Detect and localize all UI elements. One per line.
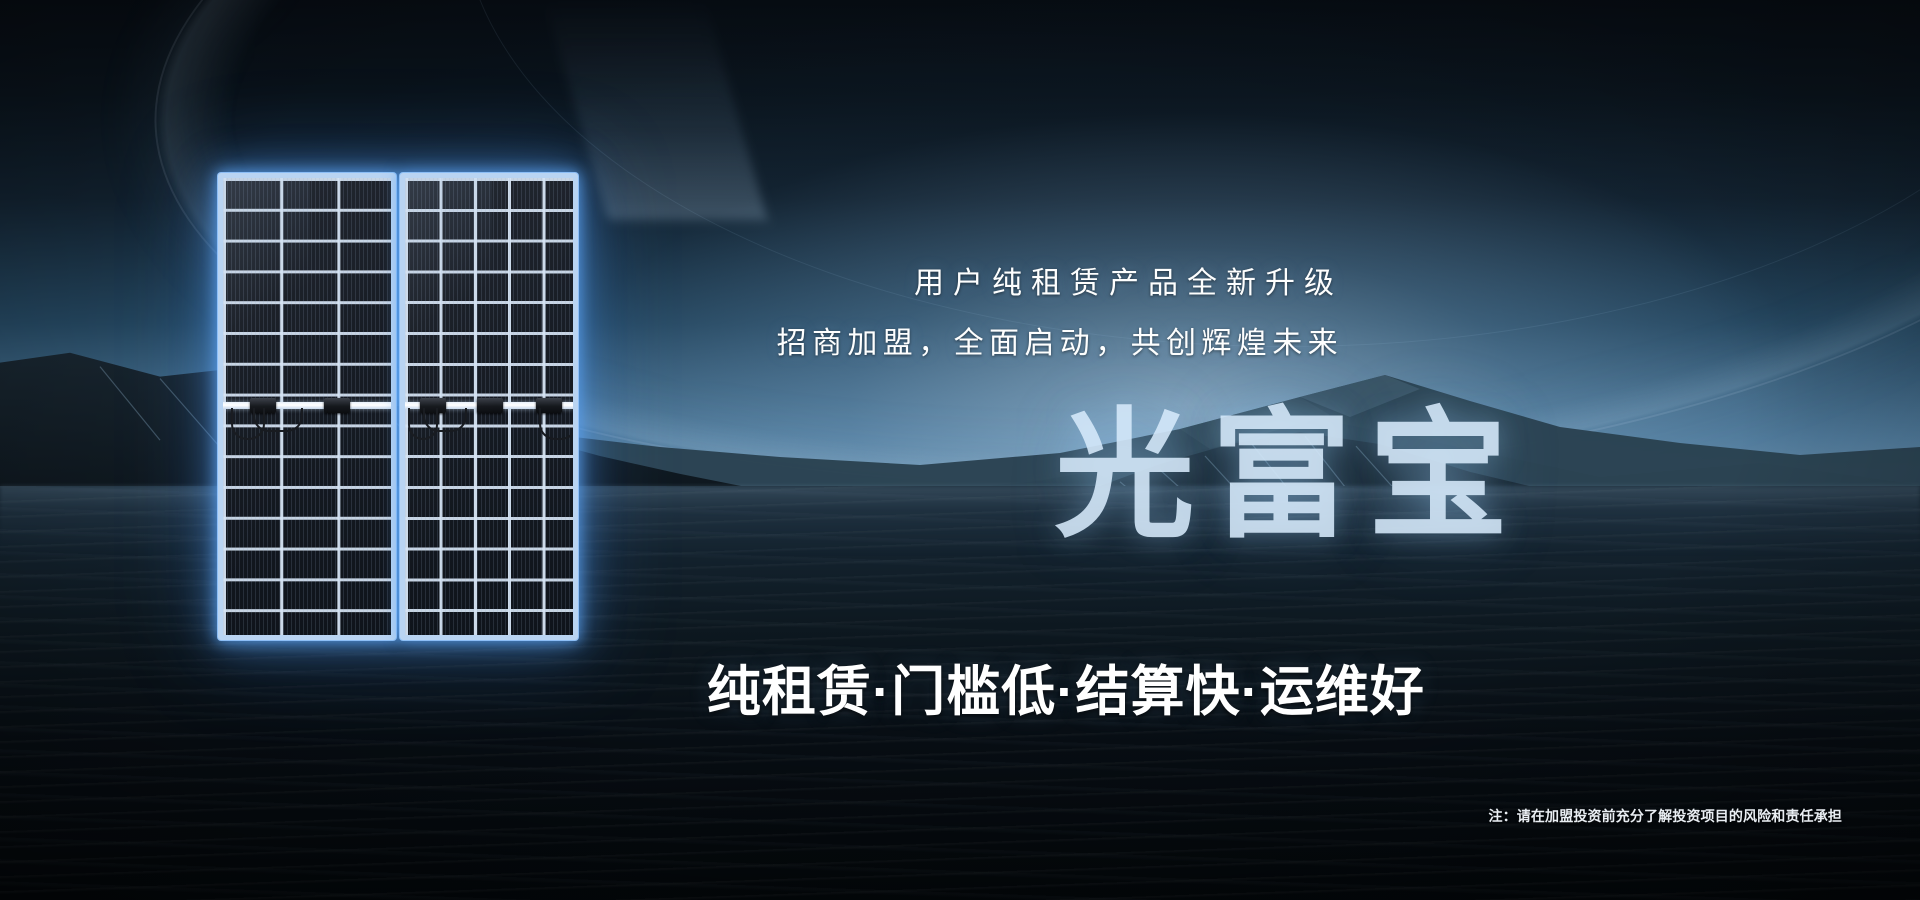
panel-cable — [253, 408, 303, 432]
promo-banner: 用户纯租赁产品全新升级 招商加盟，全面启动，共创辉煌未来 光富宝 纯租赁·门槛低… — [0, 0, 1920, 900]
disclaimer-note: 注：请在加盟投资前充分了解投资项目的风险和责任承担 — [1489, 806, 1843, 826]
panel-cable — [423, 408, 467, 432]
solar-panel-array — [218, 173, 578, 640]
junction-box — [477, 398, 503, 413]
brand-title: 光富宝 — [1038, 406, 1525, 546]
junction-box — [324, 398, 350, 413]
panel-cable — [539, 408, 577, 440]
solar-panel-left — [218, 173, 396, 640]
solar-panel-right — [400, 173, 578, 640]
headline-primary: 用户纯租赁产品全新升级 — [905, 258, 1343, 302]
headline-secondary: 招商加盟，全面启动，共创辉煌未来 — [771, 318, 1343, 362]
tagline: 纯租赁·门槛低·结算快·运维好 — [707, 665, 1425, 719]
